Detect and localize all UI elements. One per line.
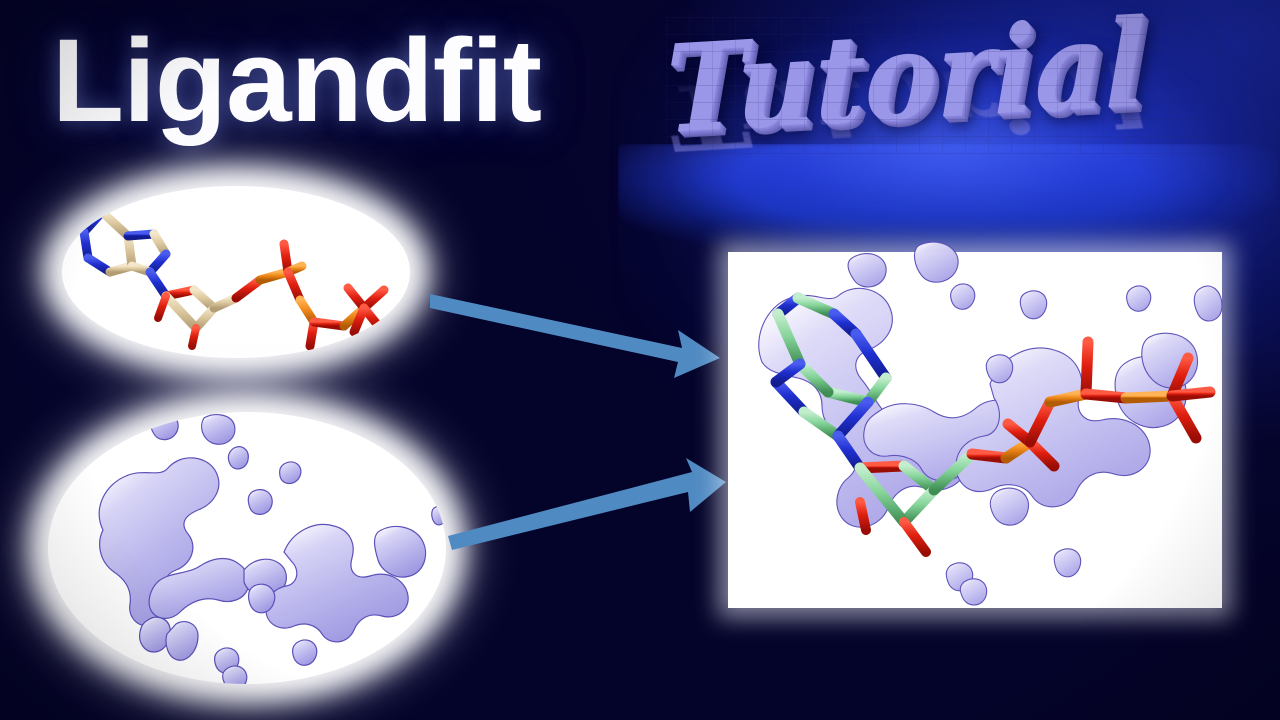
arrow-ligand-to-result	[430, 286, 720, 386]
arrow-density-to-result	[448, 458, 726, 550]
tutorial-badge: Tutorial Tutorial	[648, 6, 1248, 256]
density-ellipse-panel	[48, 412, 446, 684]
ligand-ellipse-panel	[62, 186, 410, 358]
ligand-molecule-diagram	[62, 186, 410, 358]
fitted-ligand-in-density	[728, 252, 1222, 608]
result-panel	[728, 252, 1222, 608]
tutorial-text: Tutorial	[666, 0, 1146, 161]
arrow-shape	[448, 458, 726, 550]
page-title: Ligandfit	[52, 22, 541, 140]
arrow-shape	[430, 294, 720, 378]
slide-canvas: Tutorial Tutorial Ligandfit	[0, 0, 1280, 720]
electron-density-map	[48, 412, 446, 684]
